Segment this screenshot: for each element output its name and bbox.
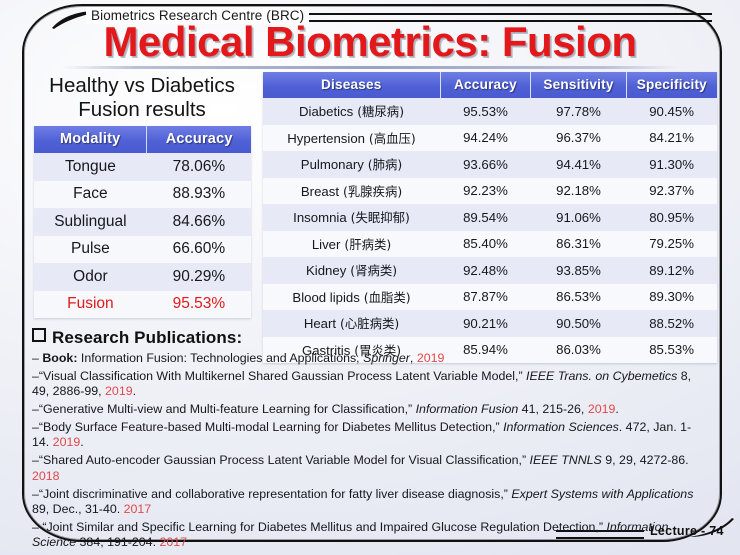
cell-specificity: 80.95%	[626, 204, 717, 231]
slide-canvas: Biometrics Research Centre (BRC) Medical…	[0, 0, 740, 555]
disease-name-en: Pulmonary	[301, 157, 364, 172]
publication-entry: –“Joint discriminative and collaborative…	[32, 487, 708, 518]
cell-disease: Liver (肝病类)	[263, 231, 440, 258]
cell-sensitivity: 94.41%	[531, 151, 626, 178]
cell-sensitivity: 86.53%	[531, 284, 626, 311]
cell-disease: Kidney (肾病类)	[263, 257, 440, 284]
table-row: Pulse66.60%	[34, 236, 251, 264]
cell-disease: Pulmonary (肺病)	[263, 151, 440, 178]
entry-details: 89, Dec., 31-40.	[32, 502, 124, 516]
modality-table-body: Tongue78.06%Face88.93%Sublingual84.66%Pu…	[34, 153, 251, 318]
research-publications-section: Research Publications: – Book: Informati…	[32, 328, 708, 553]
cell-sensitivity: 92.18%	[531, 178, 626, 205]
disease-name-cn: (糖尿病)	[353, 104, 404, 119]
left-panel-heading: Healthy vs Diabetics Fusion results	[28, 74, 256, 121]
entry-title: “Joint discriminative and collaborative …	[39, 487, 511, 501]
disease-name-cn: (肾病类)	[346, 263, 397, 278]
table-row: Diabetics (糖尿病)95.53%97.78%90.45%	[263, 98, 717, 125]
entry-venue: Information Fusion	[416, 402, 519, 416]
cell-modality: Odor	[34, 263, 147, 291]
left-heading-line2: Fusion results	[28, 98, 256, 122]
cell-accuracy: 90.29%	[147, 263, 251, 291]
cell-disease: Blood lipids (血脂类)	[263, 284, 440, 311]
disease-metrics-table: Diseases Accuracy Sensitivity Specificit…	[263, 72, 717, 363]
cell-accuracy: 88.93%	[147, 181, 251, 209]
table-row: Tongue78.06%	[34, 153, 251, 181]
cell-disease: Hypertension (高血压)	[263, 125, 440, 152]
page-title: Medical Biometrics: Fusion	[0, 18, 740, 66]
cell-sensitivity: 86.31%	[531, 231, 626, 258]
cell-disease: Diabetics (糖尿病)	[263, 98, 440, 125]
cell-modality: Sublingual	[34, 208, 147, 236]
entry-details: 41, 215-26,	[518, 402, 588, 416]
disease-name-cn: (失眠抑郁)	[347, 210, 410, 225]
cell-disease: Breast (乳腺疾病)	[263, 178, 440, 205]
publication-entry: – Book: Information Fusion: Technologies…	[32, 351, 708, 366]
entry-year: 2019	[417, 351, 445, 365]
publications-list: – Book: Information Fusion: Technologies…	[32, 351, 708, 551]
disease-name-en: Hypertension	[287, 131, 365, 146]
disease-name-cn: (肝病类)	[340, 237, 391, 252]
col-header-accuracy: Accuracy	[147, 126, 251, 153]
table-row: Sublingual84.66%	[34, 208, 251, 236]
disease-name-cn: (肺病)	[364, 157, 402, 172]
entry-year: 2018	[32, 469, 60, 483]
disease-name-en: Blood lipids	[292, 290, 359, 305]
left-heading-line1: Healthy vs Diabetics	[28, 74, 256, 98]
disease-name-en: Insomnia	[293, 210, 347, 225]
entry-details: ,	[410, 351, 417, 365]
cell-sensitivity: 91.06%	[531, 204, 626, 231]
title-underline	[62, 66, 678, 69]
cell-specificity: 91.30%	[626, 151, 717, 178]
cell-accuracy: 92.48%	[440, 257, 531, 284]
entry-dash: –	[32, 453, 39, 467]
entry-title: “Visual Classification With Multikernel …	[39, 369, 526, 383]
col-header-specificity: Specificity	[626, 72, 717, 98]
col-header-sensitivity: Sensitivity	[531, 72, 626, 98]
entry-details: 384, 191-204.	[76, 535, 159, 549]
table-row: Pulmonary (肺病)93.66%94.41%91.30%	[263, 151, 717, 178]
table-row: Blood lipids (血脂类)87.87%86.53%89.30%	[263, 284, 717, 311]
entry-venue: Information Sciences	[503, 420, 619, 434]
cell-specificity: 89.30%	[626, 284, 717, 311]
entry-title: “Body Surface Feature-based Multi-modal …	[39, 420, 503, 434]
cell-sensitivity: 97.78%	[531, 98, 626, 125]
cell-modality: Tongue	[34, 153, 147, 181]
entry-dash: –	[32, 520, 42, 534]
table-row: Insomnia (失眠抑郁)89.54%91.06%80.95%	[263, 204, 717, 231]
cell-specificity: 84.21%	[626, 125, 717, 152]
entry-year: 2017	[124, 502, 152, 516]
cell-sensitivity: 93.85%	[531, 257, 626, 284]
publication-entry: –“Visual Classification With Multikernel…	[32, 369, 708, 400]
cell-accuracy: 87.87%	[440, 284, 531, 311]
entry-details: 9, 29, 4272-86.	[602, 453, 689, 467]
table-row: Breast (乳腺疾病)92.23%92.18%92.37%	[263, 178, 717, 205]
entry-year: 2019	[588, 402, 616, 416]
cell-disease: Insomnia (失眠抑郁)	[263, 204, 440, 231]
cell-accuracy: 85.40%	[440, 231, 531, 258]
entry-dash: –	[32, 369, 39, 383]
cell-accuracy: 89.54%	[440, 204, 531, 231]
cell-accuracy: 95.53%	[440, 98, 531, 125]
disease-name-cn: (血脂类)	[360, 290, 411, 305]
entry-dash: –	[32, 420, 39, 434]
entry-title: “Shared Auto-encoder Gaussian Process La…	[39, 453, 530, 467]
table-row: Liver (肝病类)85.40%86.31%79.25%	[263, 231, 717, 258]
modality-accuracy-table: Modality Accuracy Tongue78.06%Face88.93%…	[34, 126, 251, 318]
cell-modality: Pulse	[34, 236, 147, 264]
disease-name-en: Liver	[312, 237, 341, 252]
entry-venue: Expert Systems with Applications	[511, 487, 693, 501]
publication-entry: – “Joint Similar and Specific Learning f…	[32, 520, 708, 551]
table-row: Fusion95.53%	[34, 291, 251, 319]
cell-accuracy: 78.06%	[147, 153, 251, 181]
cell-modality: Face	[34, 181, 147, 209]
disease-name-en: Breast	[301, 184, 339, 199]
table-row: Face88.93%	[34, 181, 251, 209]
entry-venue: IEEE Trans. on Cybemetics	[526, 369, 677, 383]
entry-title: Information Fusion: Technologies and App…	[77, 351, 363, 365]
cell-accuracy: 94.24%	[440, 125, 531, 152]
entry-end: .	[80, 435, 83, 449]
publication-entry: –“Shared Auto-encoder Gaussian Process L…	[32, 453, 708, 484]
entry-dash: –	[32, 402, 39, 416]
cell-accuracy: 95.53%	[147, 291, 251, 319]
disease-table-body: Diabetics (糖尿病)95.53%97.78%90.45%Hyperte…	[263, 98, 717, 363]
cell-accuracy: 84.66%	[147, 208, 251, 236]
publication-entry: –“Body Surface Feature-based Multi-modal…	[32, 420, 708, 451]
cell-specificity: 90.45%	[626, 98, 717, 125]
disease-name-cn: (乳腺疾病)	[339, 184, 402, 199]
col-header-modality: Modality	[34, 126, 147, 153]
disease-name-en: Diabetics	[299, 104, 353, 119]
cell-specificity: 92.37%	[626, 178, 717, 205]
cell-specificity: 89.12%	[626, 257, 717, 284]
entry-venue: IEEE TNNLS	[530, 453, 602, 467]
cell-modality: Fusion	[34, 291, 147, 319]
entry-dash: –	[32, 351, 42, 365]
table-row: Kidney (肾病类)92.48%93.85%89.12%	[263, 257, 717, 284]
publication-entry: –“Generative Multi-view and Multi-featur…	[32, 402, 708, 417]
entry-year: 2019	[105, 384, 133, 398]
entry-dash: –	[32, 487, 39, 501]
entry-venue: Springer	[363, 351, 410, 365]
entry-title: “Generative Multi-view and Multi-feature…	[39, 402, 416, 416]
cell-accuracy: 93.66%	[440, 151, 531, 178]
cell-sensitivity: 96.37%	[531, 125, 626, 152]
publications-heading-text: Research Publications:	[52, 328, 242, 347]
disease-name-en: Kidney	[306, 263, 346, 278]
entry-end: .	[615, 402, 618, 416]
cell-accuracy: 92.23%	[440, 178, 531, 205]
disease-name-cn: (高血压)	[365, 131, 416, 146]
entry-year: 2019	[53, 435, 81, 449]
table-row: Odor90.29%	[34, 263, 251, 291]
entry-title: “Joint Similar and Specific Learning for…	[42, 520, 606, 534]
publications-heading: Research Publications:	[32, 328, 708, 348]
cell-accuracy: 66.60%	[147, 236, 251, 264]
table-row: Hypertension (高血压)94.24%96.37%84.21%	[263, 125, 717, 152]
lecture-number: Lecture - 74	[650, 524, 724, 538]
entry-end: .	[133, 384, 136, 398]
table-header-row: Modality Accuracy	[34, 126, 251, 153]
col-header-diseases: Diseases	[263, 72, 440, 98]
entry-year: 2017	[159, 535, 187, 549]
table-header-row: Diseases Accuracy Sensitivity Specificit…	[263, 72, 717, 98]
bullet-square-icon	[32, 328, 46, 342]
entry-label: Book:	[42, 351, 77, 365]
cell-specificity: 79.25%	[626, 231, 717, 258]
col-header-accuracy: Accuracy	[440, 72, 531, 98]
